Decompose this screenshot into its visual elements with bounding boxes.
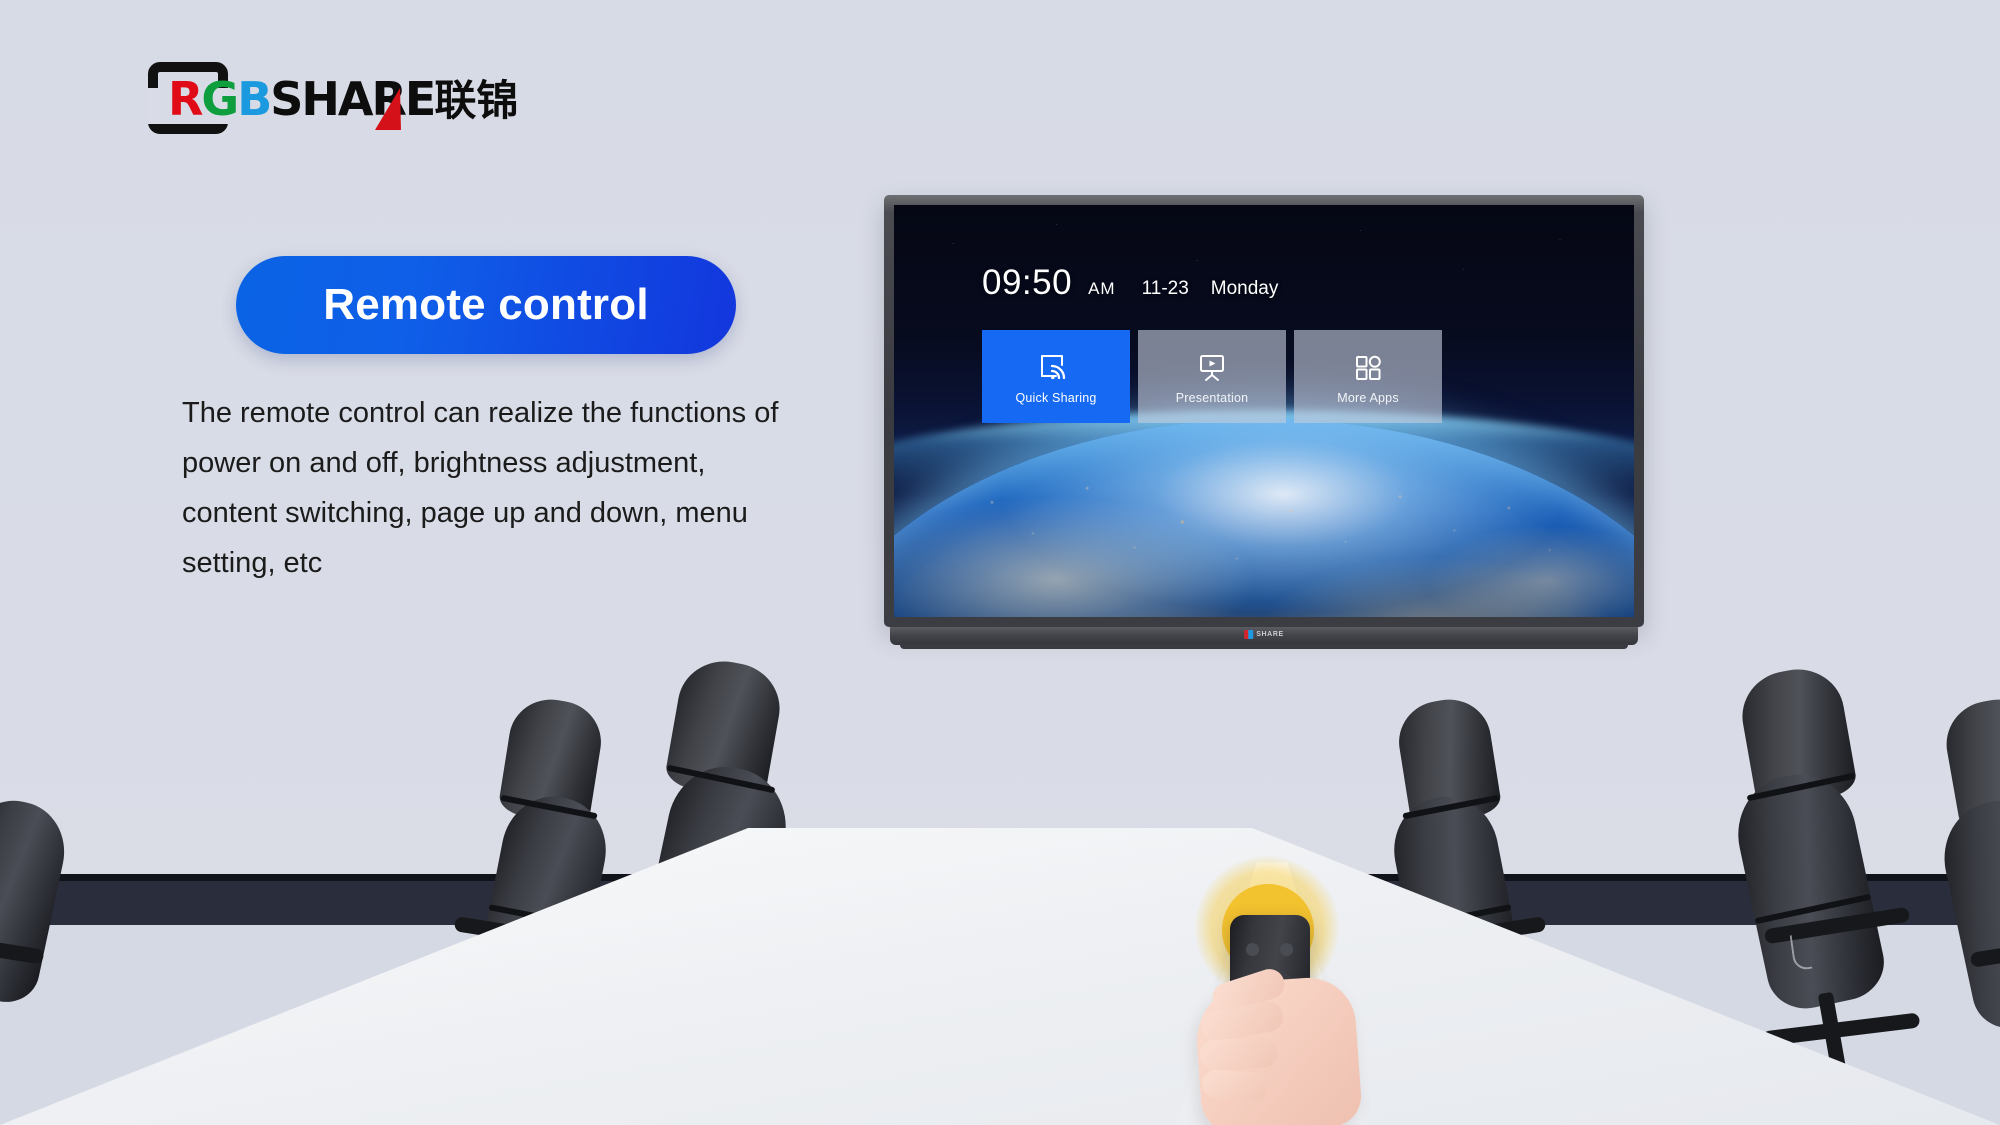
remote-button-top-left: [1246, 943, 1259, 956]
clock-date: 11-23: [1142, 278, 1189, 300]
description-line-4: setting, etc: [182, 538, 842, 588]
slide-canvas: RGBSHARE联锦 Remote control The remote con…: [0, 0, 2000, 1125]
hand-holding-remote: [1193, 975, 1363, 1125]
description-text: The remote control can realize the funct…: [182, 388, 842, 588]
app-tile-presentation[interactable]: Presentation: [1138, 330, 1286, 423]
display-screen: 09:50 AM 11-23 Monday Quic: [894, 205, 1634, 617]
app-tile-label: More Apps: [1337, 391, 1399, 405]
section-title-label: Remote control: [323, 280, 649, 330]
finger-ring: [1199, 1037, 1278, 1070]
city-lights-layer: [924, 460, 1605, 600]
finger-pinky: [1201, 1069, 1269, 1102]
finger-middle: [1200, 999, 1286, 1043]
display-stand-bar: [900, 643, 1628, 649]
section-title-pill: Remote control: [236, 256, 736, 354]
table-surface: [0, 828, 2000, 1125]
clock-meridiem: AM: [1088, 279, 1116, 299]
remote-button-top-right: [1280, 943, 1293, 956]
screen-status-bar: 09:50 AM 11-23 Monday: [982, 263, 1278, 303]
conference-table: [0, 828, 2000, 1125]
clock-weekday: Monday: [1211, 278, 1279, 300]
description-line-3: content switching, page up and down, men…: [182, 488, 842, 538]
app-tile-row: Quick Sharing Presentation: [982, 330, 1442, 423]
logo-wordmark: RGBSHARE联锦: [168, 76, 518, 124]
app-tile-more-apps[interactable]: More Apps: [1294, 330, 1442, 423]
app-grid-icon: [1351, 349, 1385, 383]
screen-cast-icon: [1039, 349, 1073, 383]
display-brand-badge: SHARE: [1244, 630, 1284, 639]
description-line-2: power on and off, brightness adjustment,: [182, 438, 842, 488]
description-line-1: The remote control can realize the funct…: [182, 388, 842, 438]
app-tile-label: Quick Sharing: [1015, 391, 1096, 405]
logo-letter-g: G: [201, 72, 237, 126]
company-logo: RGBSHARE联锦: [148, 62, 508, 134]
app-tile-quick-sharing[interactable]: Quick Sharing: [982, 330, 1130, 423]
logo-chinese-text: 联锦: [434, 76, 518, 125]
brand-badge-label: SHARE: [1256, 631, 1284, 638]
app-tile-label: Presentation: [1176, 391, 1249, 405]
brand-mark-icon: [1244, 630, 1253, 639]
wall-mounted-display: 09:50 AM 11-23 Monday Quic: [884, 195, 1644, 647]
logo-letter-b: B: [237, 72, 270, 126]
presentation-screen-icon: [1195, 349, 1229, 383]
logo-letter-r: R: [168, 72, 201, 126]
clock-time: 09:50: [982, 263, 1072, 303]
